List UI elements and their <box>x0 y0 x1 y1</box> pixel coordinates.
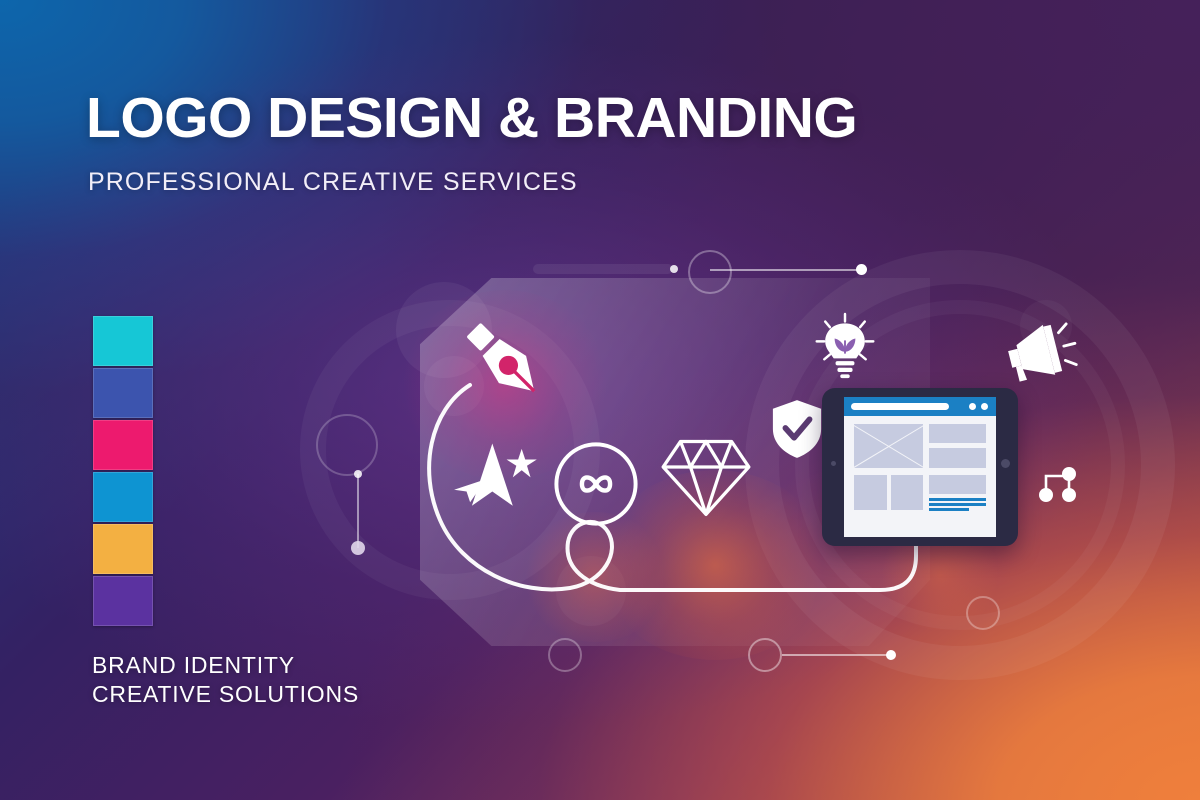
browser-url-field[interactable] <box>851 403 949 410</box>
color-swatch-azure-blue[interactable] <box>93 472 153 522</box>
wireframe-side-block-1 <box>929 424 986 443</box>
browser-dot-1[interactable] <box>969 403 976 410</box>
browser-dot-2[interactable] <box>981 403 988 410</box>
wireframe-lower-block-3 <box>929 475 986 494</box>
page-title: LOGO DESIGN & BRANDING <box>86 90 857 147</box>
pen-nib-icon <box>455 312 551 408</box>
connector-dot-top-right <box>856 264 867 275</box>
abstract-logo-mark-icon <box>450 440 540 520</box>
color-swatch-magenta-pink[interactable] <box>93 420 153 470</box>
tablet-mockup[interactable] <box>822 388 1018 546</box>
tablet-screen <box>844 397 996 537</box>
color-palette-strip <box>93 316 153 628</box>
connector-circle-left <box>316 414 378 476</box>
wireframe-side-block-2 <box>929 448 986 468</box>
page-subtitle: PROFESSIONAL CREATIVE SERVICES <box>88 168 578 197</box>
color-swatch-cyan[interactable] <box>93 316 153 366</box>
wireframe-lower-block-2 <box>891 475 923 510</box>
connector-dot-left-top <box>354 470 362 478</box>
connector-circle-top <box>688 250 732 294</box>
tablet-camera-icon <box>831 461 836 466</box>
poster-canvas: LOGO DESIGN & BRANDING PROFESSIONAL CREA… <box>0 0 1200 800</box>
color-swatch-violet-purple[interactable] <box>93 576 153 626</box>
connector-line-top <box>710 269 862 271</box>
sitemap-nodes-icon <box>1036 464 1082 510</box>
connector-circle-bottom-left <box>548 638 582 672</box>
connector-bar-top <box>533 264 673 274</box>
megaphone-icon <box>1000 322 1080 384</box>
connector-line-left <box>357 474 359 548</box>
shield-check-icon <box>770 398 824 460</box>
connector-circle-bottom-right <box>748 638 782 672</box>
wireframe-image-placeholder <box>854 424 923 468</box>
wireframe-text-line-2 <box>929 503 986 506</box>
footer-line-brand-identity: BRAND IDENTITY <box>92 652 295 679</box>
wireframe-text-line-3 <box>929 508 969 511</box>
wireframe-lower-block-1 <box>854 475 887 510</box>
color-swatch-amber-yellow[interactable] <box>93 524 153 574</box>
browser-title-bar <box>844 397 996 416</box>
color-swatch-indigo-blue[interactable] <box>93 368 153 418</box>
footer-line-creative-solutions: CREATIVE SOLUTIONS <box>92 681 359 708</box>
infinity-circle-icon <box>552 440 640 528</box>
connector-circle-bottom-far-right <box>966 596 1000 630</box>
connector-dot-bottom-right <box>886 650 896 660</box>
diamond-icon <box>660 436 752 518</box>
connector-line-bottom <box>782 654 892 656</box>
wireframe-text-line-1 <box>929 498 986 501</box>
connector-dot-left-bottom <box>351 541 365 555</box>
tablet-home-button[interactable] <box>1001 459 1010 468</box>
lightbulb-leaf-icon <box>812 312 878 382</box>
